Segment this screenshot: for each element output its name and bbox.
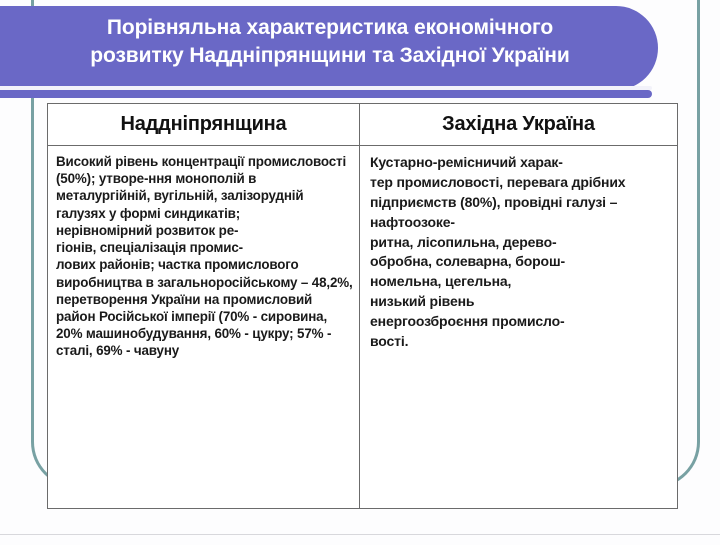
page-title: Порівняльна характеристика економічного … [30,14,630,69]
column-header-zakhidna-ukraina: Західна Україна [360,104,677,145]
table-row: Високий рівень концентрації промисловост… [48,146,677,508]
slide-canvas: Порівняльна характеристика економічного … [0,0,720,545]
cell-zakhidna-ukraina-description: Кустарно-ремісничий харак- тер промислов… [360,146,677,508]
column-header-naddniprianshchyna: Наддніпрянщина [48,104,360,145]
title-banner-strip [0,90,652,98]
bottom-divider [0,534,720,535]
comparison-table: Наддніпрянщина Західна Україна Високий р… [47,103,678,509]
title-banner-underline [0,86,652,90]
cell-naddniprianshchyna-description: Високий рівень концентрації промисловост… [48,146,360,508]
table-header-row: Наддніпрянщина Західна Україна [48,104,677,146]
